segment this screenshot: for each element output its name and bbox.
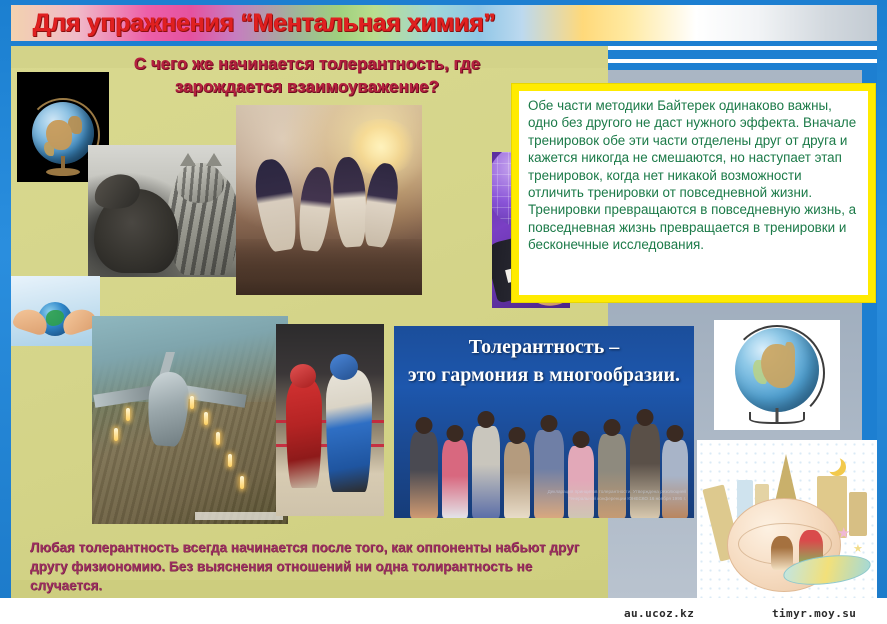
boxer-blue-head	[330, 354, 358, 380]
flare	[228, 454, 232, 467]
child	[442, 440, 468, 518]
dog-cat-photo	[88, 145, 240, 277]
header-secondary-bars	[608, 46, 887, 68]
page-title: Для упражнения “Ментальная химия”	[33, 9, 496, 38]
child	[598, 434, 626, 518]
jet-photo-credit	[195, 512, 283, 520]
tolerance-poster: Толерантность – это гармония в многообра…	[394, 326, 694, 518]
globe-sphere	[735, 328, 819, 412]
watermark-left: au.ucoz.kz	[624, 607, 694, 620]
tolerance-fine-print: Декларация принципов толерантности. Утве…	[536, 488, 686, 502]
child	[472, 426, 500, 518]
battle-ground	[236, 239, 422, 295]
boxer-red-head	[290, 364, 316, 388]
star-icon: ★	[853, 542, 863, 555]
info-text: Обе части методики Байтерек одинаково ва…	[519, 91, 868, 254]
header-bar-upper	[608, 50, 879, 59]
globe-base	[46, 168, 80, 176]
bottom-caption: Любая толерантность всегда начинается по…	[30, 538, 590, 595]
flare	[114, 428, 118, 441]
battle-painting	[236, 105, 422, 295]
subtitle-question: С чего же начинается толерантность, где …	[72, 52, 542, 98]
footer-bar: au.ucoz.kz timyr.moy.su	[0, 598, 887, 624]
cat-head	[176, 163, 224, 203]
slide-canvas: Для упражнения “Ментальная химия” С чего…	[0, 0, 887, 624]
globe-white-photo	[714, 320, 840, 430]
child	[630, 424, 660, 518]
globe-legs	[749, 412, 805, 424]
flare	[190, 396, 194, 409]
building	[849, 492, 867, 536]
jet-fuselage	[145, 371, 190, 448]
kids-world-illustration: ★ ★	[697, 440, 881, 600]
soldier-figure	[360, 161, 401, 248]
flare	[204, 412, 208, 425]
left-blue-frame	[0, 0, 11, 624]
globe-sphere	[32, 102, 94, 164]
boxer-red	[286, 378, 322, 488]
fighter-jet-photo	[92, 316, 288, 524]
flare	[240, 476, 244, 489]
header-bar-lower	[608, 63, 887, 70]
cartoon-child	[771, 536, 793, 570]
flare	[126, 408, 130, 421]
boxing-photo	[276, 324, 384, 516]
child	[662, 440, 688, 518]
star-icon: ★	[837, 524, 850, 542]
child	[534, 430, 564, 518]
eiffel-tower-icon	[775, 454, 797, 502]
child	[568, 446, 594, 518]
tolerance-line-2: это гармония в многообразии.	[394, 364, 694, 387]
hands-earth-illustration	[10, 276, 100, 346]
cat-ear-left	[180, 153, 196, 166]
info-text-box: Обе части методики Байтерек одинаково ва…	[512, 84, 875, 302]
boxer-blue	[326, 370, 372, 492]
right-blue-frame	[877, 0, 887, 624]
flare	[216, 432, 220, 445]
watermark-right: timyr.moy.su	[772, 607, 856, 620]
subtitle-line-2: зарождается взаимоуважение?	[72, 75, 542, 98]
moon-icon	[823, 454, 841, 472]
cat-ear-right	[206, 153, 222, 166]
tolerance-line-1: Толерантность –	[394, 336, 694, 359]
subtitle-line-1: С чего же начинается толерантность, где	[72, 52, 542, 75]
header-band: Для упражнения “Ментальная химия”	[0, 0, 887, 46]
child	[410, 432, 438, 518]
child	[504, 442, 530, 518]
